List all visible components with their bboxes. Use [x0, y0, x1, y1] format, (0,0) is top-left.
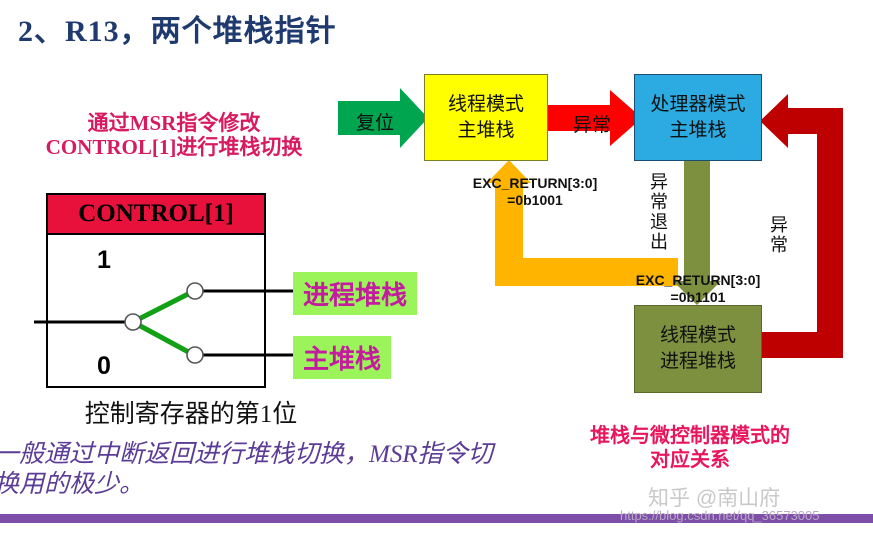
- flow-box-handler-mode-main-stack-label: 处理器模式 主堆栈: [650, 92, 745, 143]
- flow-box-handler-mode-main-stack: 处理器模式 主堆栈: [634, 74, 762, 161]
- bottom-white-strip: [0, 523, 873, 538]
- flow-diagram-caption: 堆栈与微控制器模式的 对应关系: [560, 424, 820, 472]
- exception-return-arrow-label: 异常: [770, 215, 788, 255]
- flow-box-thread-mode-process-stack-label: 线程模式 进程堆栈: [660, 323, 736, 374]
- flow-box-thread-mode-main-stack: 线程模式 主堆栈: [424, 74, 548, 161]
- exc-return-1101-label: EXC_RETURN[3:0] =0b1101: [618, 272, 778, 306]
- flow-box-thread-mode-process-stack: 线程模式 进程堆栈: [634, 305, 762, 393]
- flow-box-thread-mode-main-stack-label: 线程模式 主堆栈: [448, 92, 524, 143]
- exc-return-1001-label: EXC_RETURN[3:0] =0b1001: [460, 175, 610, 209]
- slide-canvas: 2、R13，两个堆栈指针 通过MSR指令修改 CONTROL[1]进行堆栈切换 …: [0, 0, 873, 538]
- exception-arrow-label: 异常: [573, 110, 611, 137]
- source-url-watermark: https://blog.csdn.net/qq_36573005: [620, 508, 820, 523]
- reset-arrow-label: 复位: [356, 108, 394, 135]
- exception-exit-arrow-label: 异常退出: [650, 172, 668, 253]
